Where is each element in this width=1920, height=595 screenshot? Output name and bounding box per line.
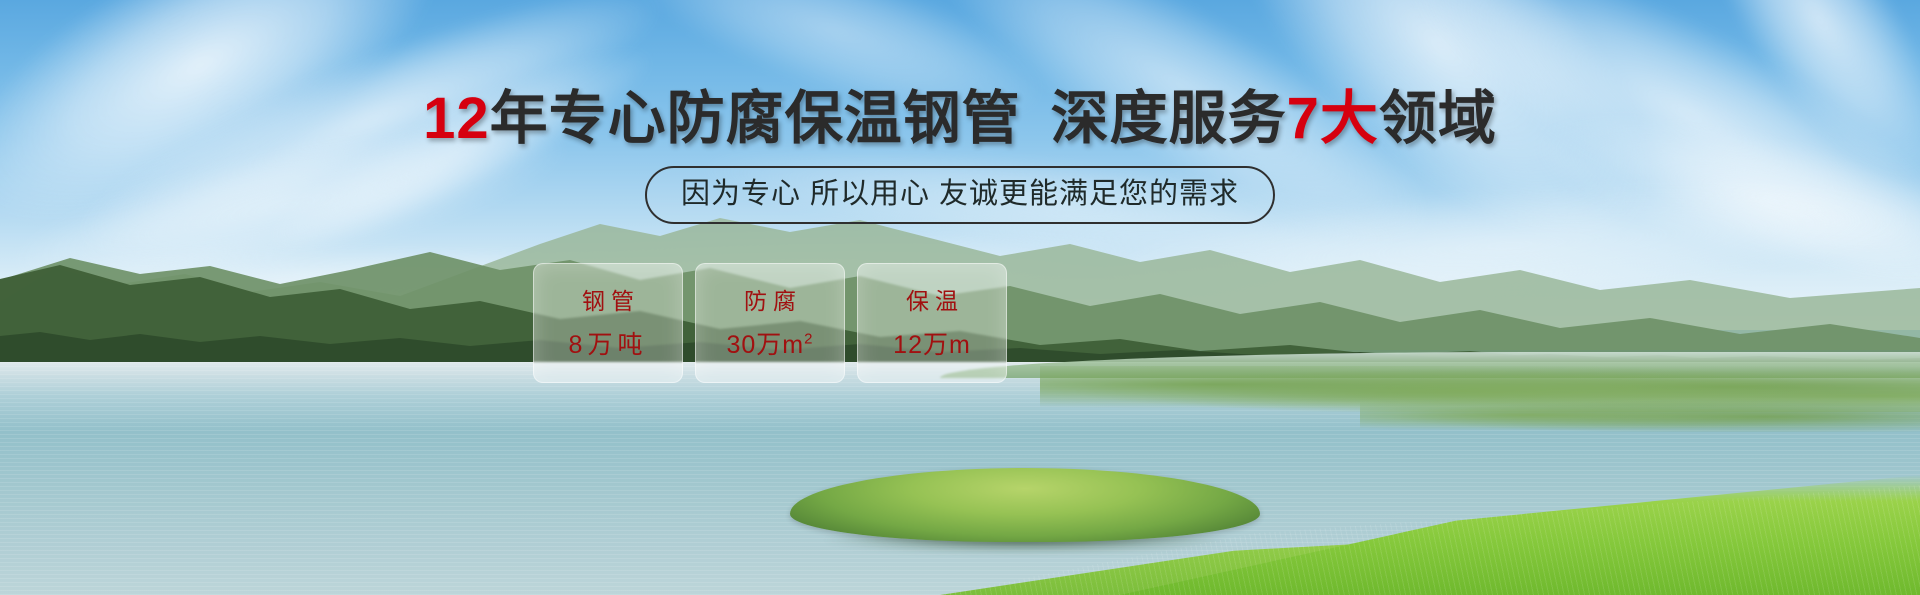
stat-card-anticorrosion: 防腐 30万m2 [695, 263, 845, 383]
stat-card-title: 保温 [900, 286, 964, 316]
stat-value-text: 12万m [893, 331, 971, 359]
banner-subtitle-wrapper: 因为专心 所以用心 友诚更能满足您的需求 [0, 166, 1920, 224]
stat-card-title: 钢管 [576, 286, 640, 316]
stat-cards: 钢管 8万吨 防腐 30万m2 保温 12万m [533, 263, 1173, 383]
stat-card-value: 12万m [893, 330, 971, 360]
stat-card-title: 防腐 [738, 286, 802, 316]
headline-service-text: 深度服务 [1051, 86, 1287, 151]
headline-years: 12 [423, 86, 490, 151]
headline-domains: 7大 [1287, 86, 1379, 151]
stat-card-value: 8万吨 [569, 330, 648, 360]
banner-headline: 12年专心防腐保温钢管深度服务7大领域 [0, 86, 1920, 152]
stat-card-steel-pipe: 钢管 8万吨 [533, 263, 683, 383]
headline-main-text: 年专心防腐保温钢管 [490, 86, 1021, 151]
stat-value-text: 8万吨 [569, 331, 648, 359]
stat-card-value: 30万m2 [727, 330, 814, 360]
stat-value-text: 30万m [727, 331, 805, 359]
stat-card-insulation: 保温 12万m [857, 263, 1007, 383]
stat-value-superscript: 2 [804, 331, 813, 348]
headline-domains-text: 领域 [1379, 86, 1497, 151]
banner-content: 12年专心防腐保温钢管深度服务7大领域 因为专心 所以用心 友诚更能满足您的需求… [0, 0, 1920, 595]
banner-subtitle-pill: 因为专心 所以用心 友诚更能满足您的需求 [645, 166, 1275, 224]
hero-banner: 12年专心防腐保温钢管深度服务7大领域 因为专心 所以用心 友诚更能满足您的需求… [0, 0, 1920, 595]
